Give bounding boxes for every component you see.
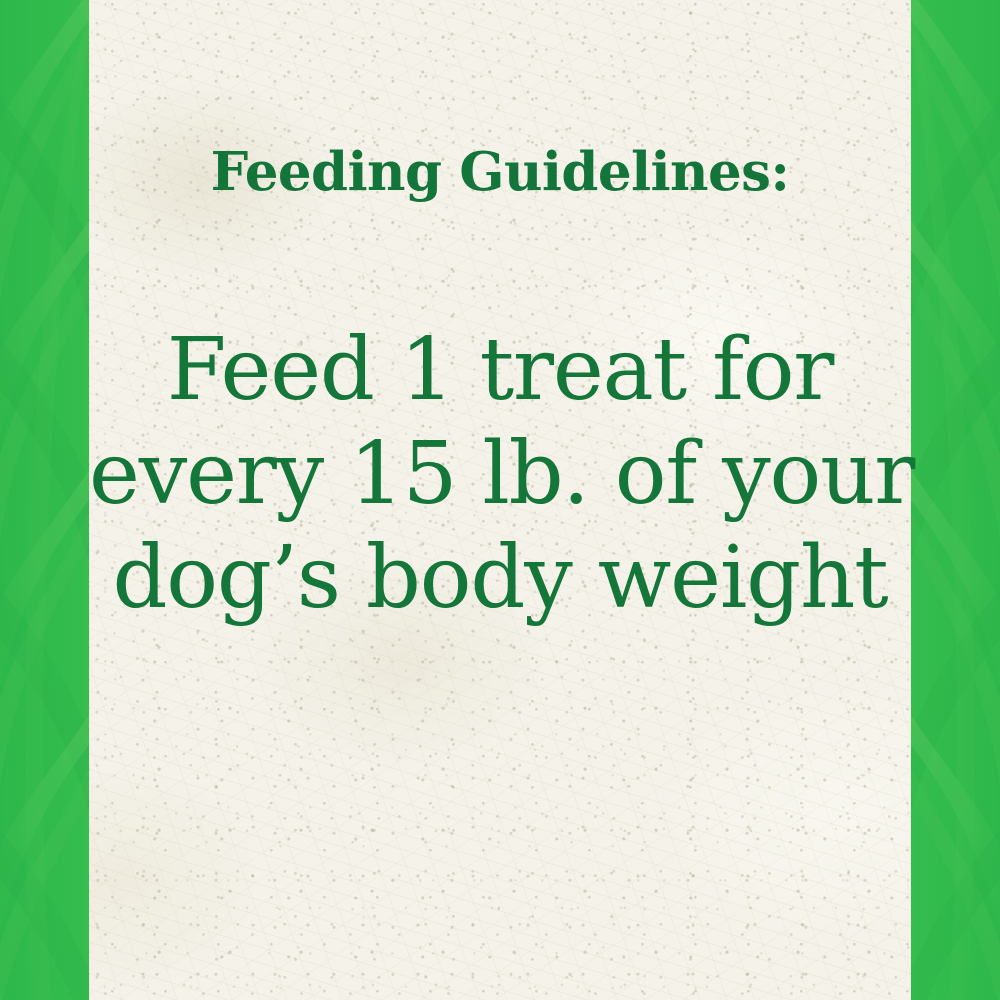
feeding-instruction-text: Feed 1 treat for every 15 lb. of your do… [89, 318, 911, 630]
feeding-instruction-line-2: every 15 lb. of your [89, 422, 911, 526]
content-area: Feeding Guidelines: Feed 1 treat for eve… [89, 0, 911, 1000]
leaf-pattern-graphic-right [911, 0, 1000, 1000]
feeding-guidelines-heading: Feeding Guidelines: [89, 146, 911, 199]
feeding-instruction-line-1: Feed 1 treat for [89, 318, 911, 422]
feeding-instruction-line-3: dog’s body weight [89, 526, 911, 630]
leaf-pattern-graphic-left [0, 0, 89, 1000]
feeding-guidelines-panel: Feeding Guidelines: Feed 1 treat for eve… [0, 0, 1000, 1000]
leaf-pattern-band-right [911, 0, 1000, 1000]
leaf-pattern-band-left [0, 0, 89, 1000]
